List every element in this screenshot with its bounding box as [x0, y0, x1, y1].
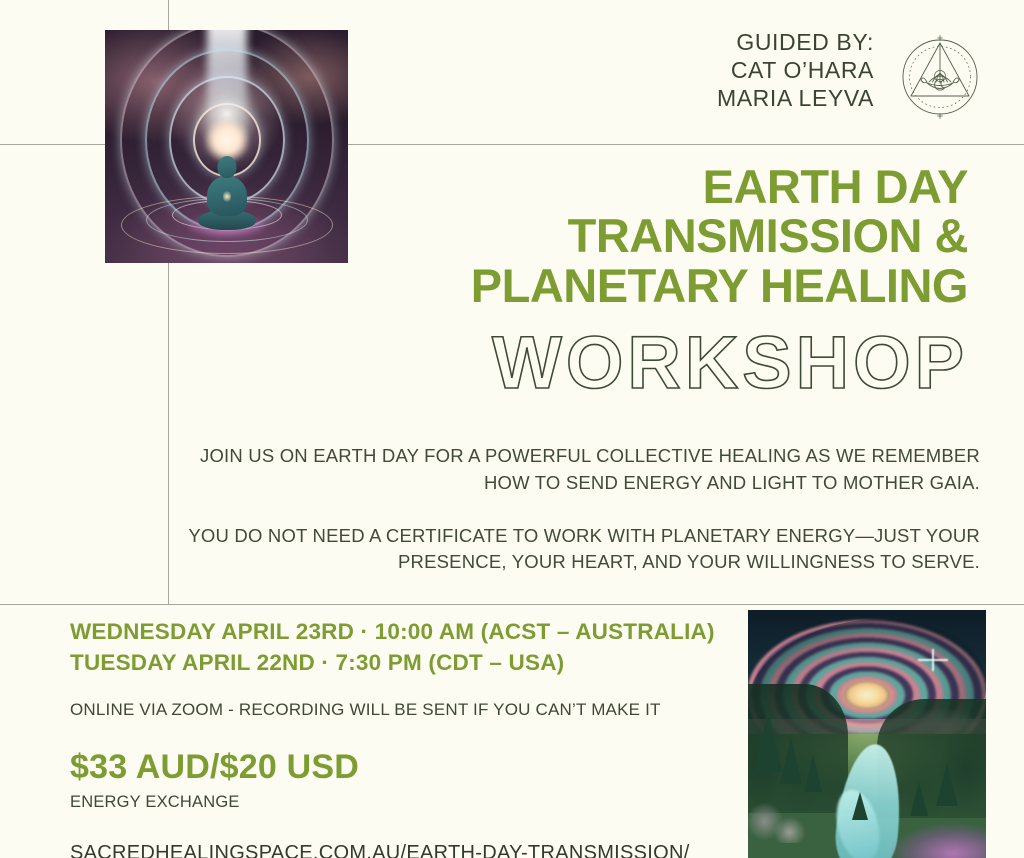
guided-by-block: GUIDED BY: CAT O’HARA MARIA LEYVA [717, 28, 874, 112]
price-amount: $33 AUD/$20 USD [70, 748, 730, 787]
landscape-artwork [748, 610, 986, 858]
title-line-2: TRANSMISSION & [328, 211, 968, 260]
title-line-1: EARTH DAY [328, 162, 968, 211]
price-label: ENERGY EXCHANGE [70, 793, 730, 812]
riverbank-rocks [748, 789, 815, 844]
figure-head [217, 156, 236, 178]
meditating-figure [198, 156, 256, 230]
divider-horizontal-lower [0, 604, 1024, 605]
pine-tree [936, 762, 958, 806]
session-time-2: TUESDAY APRIL 22ND · 7:30 PM (CDT – USA) [70, 647, 730, 678]
description-paragraph-1: JOIN US ON EARTH DAY FOR A POWERFUL COLL… [180, 443, 980, 497]
description-block: JOIN US ON EARTH DAY FOR A POWERFUL COLL… [180, 443, 980, 576]
facilitator-name-1: CAT O’HARA [717, 56, 874, 84]
pine-tree [852, 792, 868, 820]
star-sparkle-icon [918, 645, 948, 675]
facilitator-name-2: MARIA LEYVA [717, 84, 874, 112]
platform-note: ONLINE VIA ZOOM - RECORDING WILL BE SENT… [70, 700, 730, 720]
meditation-artwork [105, 30, 348, 263]
description-paragraph-2: YOU DO NOT NEED A CERTIFICATE TO WORK WI… [180, 523, 980, 577]
pine-tree [780, 736, 802, 784]
page-title: EARTH DAY TRANSMISSION & PLANETARY HEALI… [328, 162, 968, 310]
title-line-3: PLANETARY HEALING [328, 261, 968, 310]
pine-tree [754, 710, 782, 772]
workshop-outline-word: WORKSHOP [328, 326, 968, 400]
registration-link[interactable]: SACREDHEALINGSPACE.COM.AU/EARTH-DAY-TRAN… [70, 842, 690, 858]
figure-heart-light [223, 190, 231, 203]
session-time-1: WEDNESDAY APRIL 23RD · 10:00 AM (ACST – … [70, 616, 730, 647]
event-details-block: WEDNESDAY APRIL 23RD · 10:00 AM (ACST – … [70, 616, 730, 858]
pine-tree [910, 782, 928, 816]
sacred-geometry-lotus-logo-icon [889, 26, 991, 128]
flyer-canvas: GUIDED BY: CAT O’HARA MARIA LEYVA [0, 0, 1024, 858]
pine-tree [804, 754, 822, 792]
guided-by-label: GUIDED BY: [717, 28, 874, 56]
purple-wildflowers [877, 813, 986, 858]
